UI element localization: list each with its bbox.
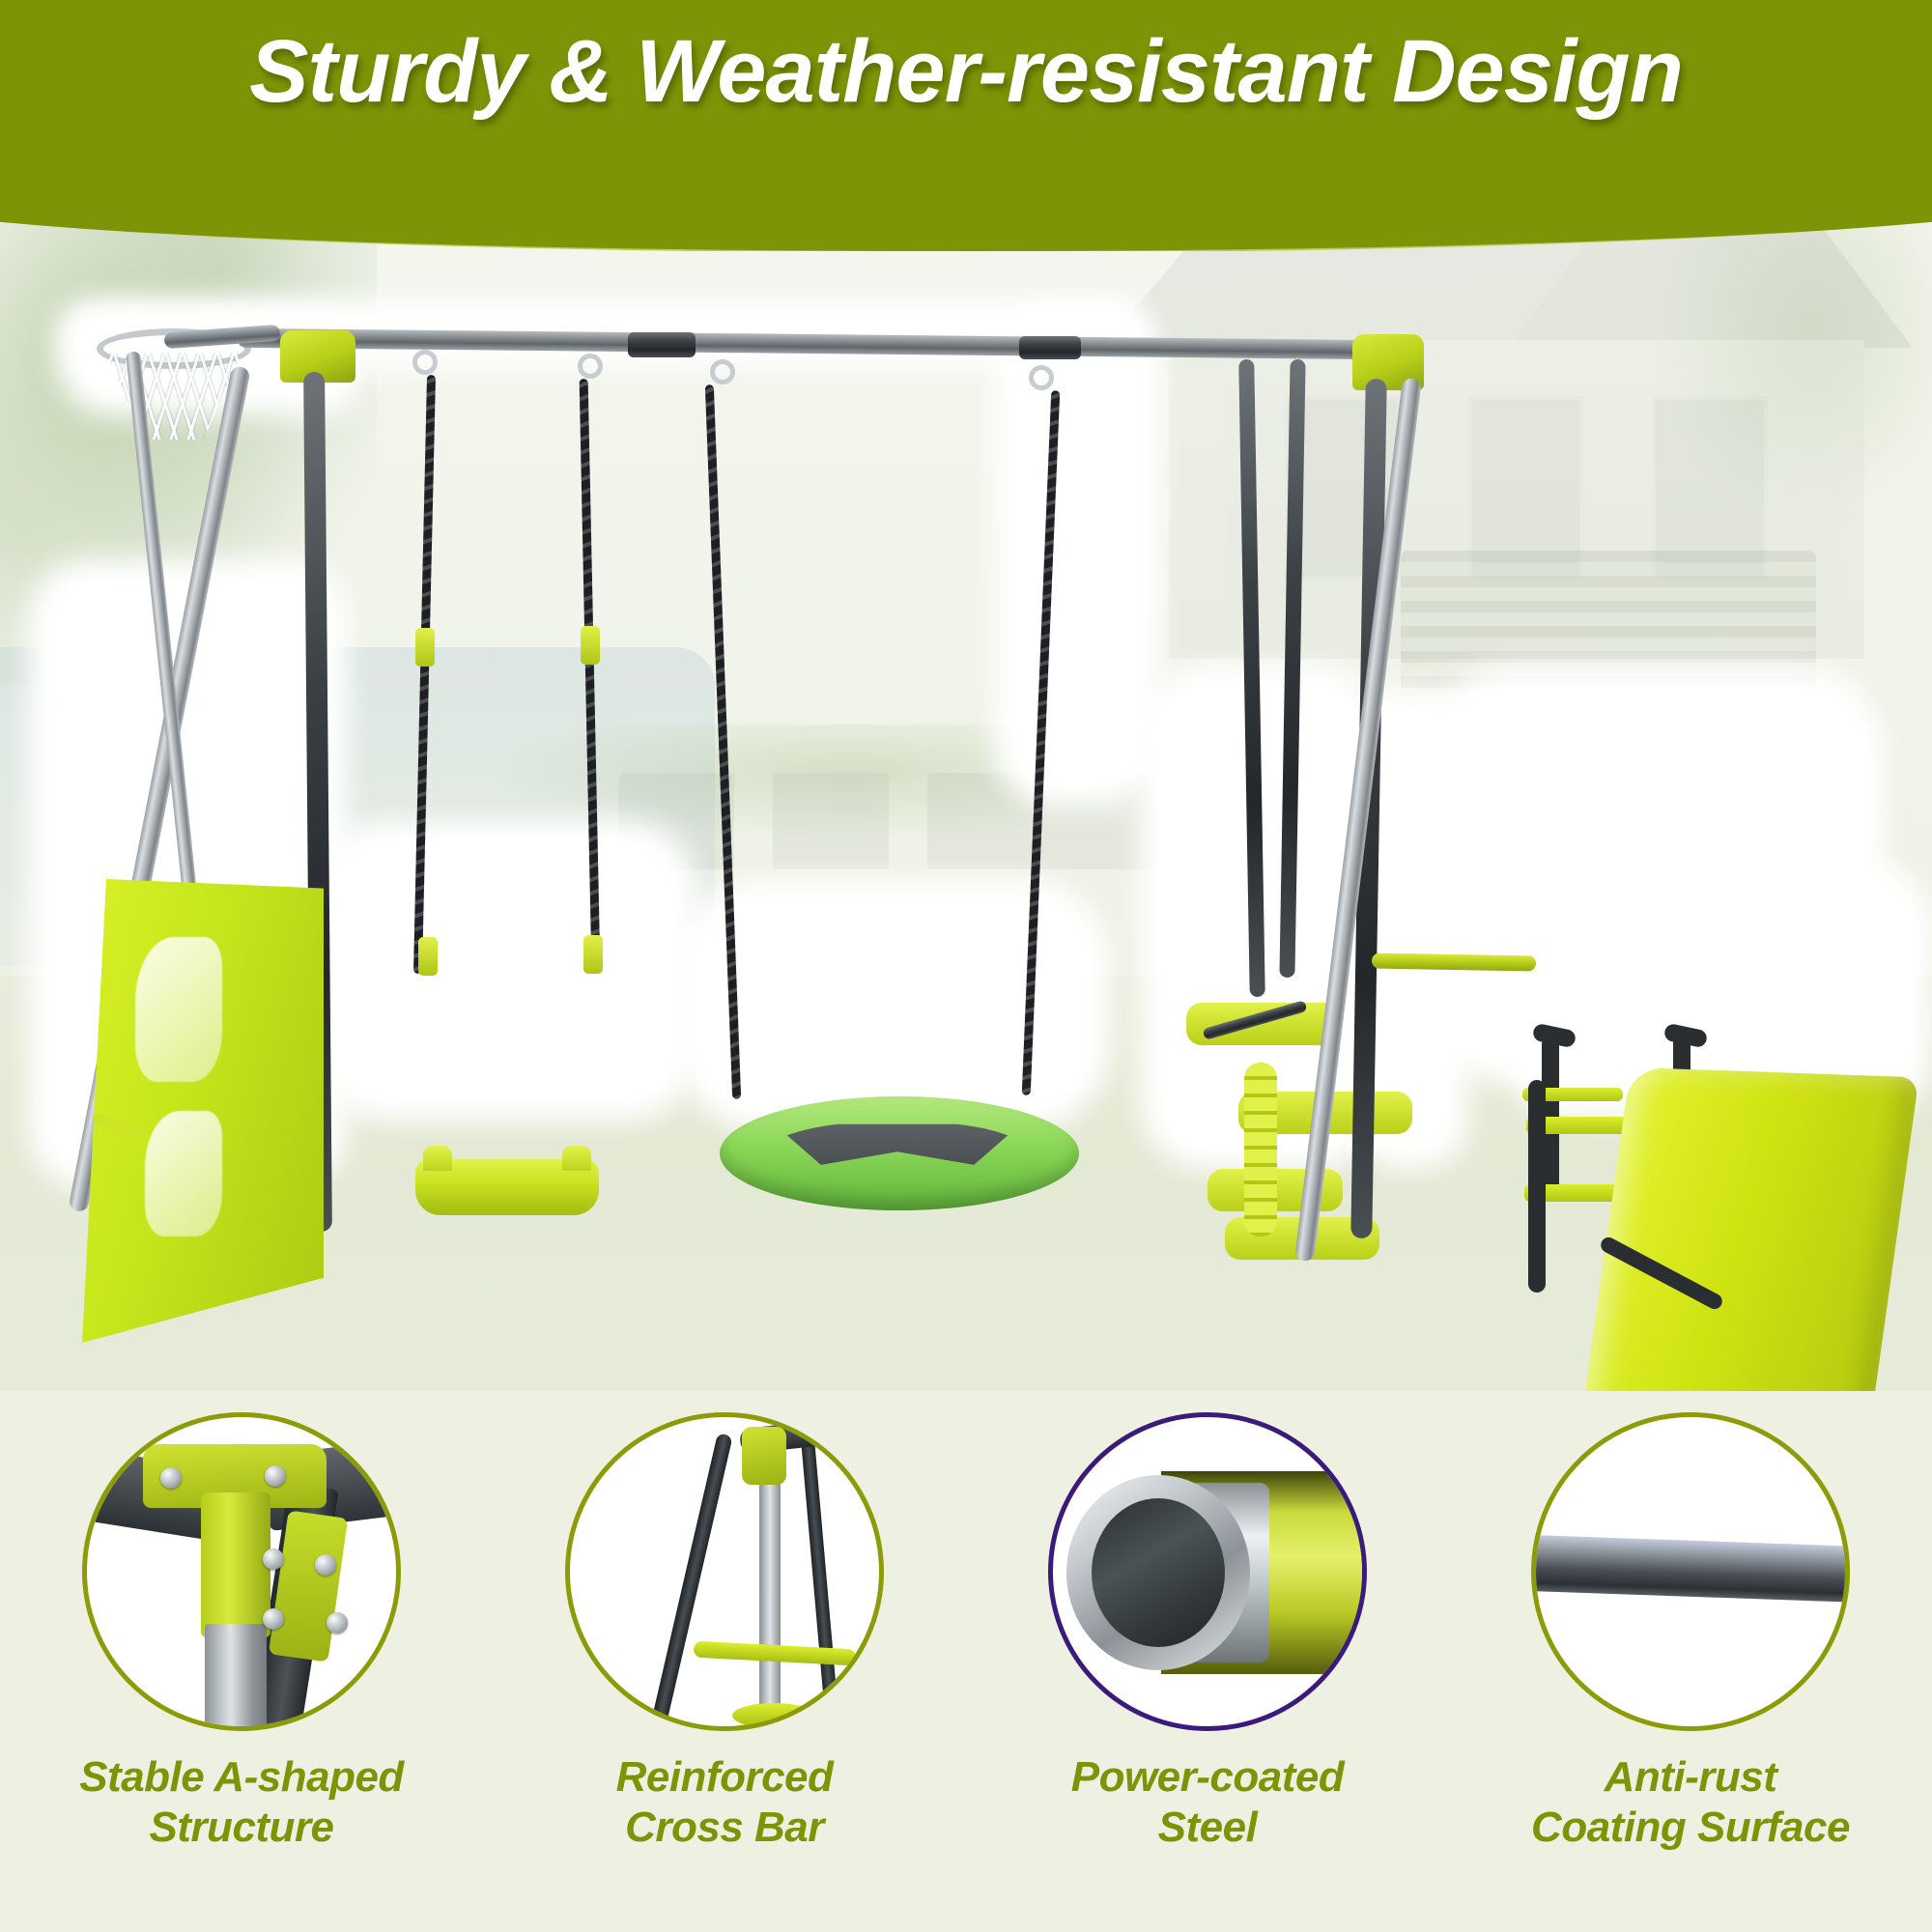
- rope-adjuster: [418, 937, 438, 976]
- header-banner: Sturdy & Weather-resistant Design: [0, 0, 1932, 251]
- slide-support-bar: [1372, 953, 1536, 972]
- feature-image-a-frame-bracket: [82, 1412, 401, 1731]
- bolt-icon: [327, 1612, 348, 1634]
- bolt-icon: [263, 1608, 284, 1630]
- bracket-post: [205, 1624, 267, 1731]
- feature-image-coated-bar: [1531, 1412, 1850, 1731]
- feature-label-line2: Coating Surface: [1531, 1804, 1850, 1851]
- a-frame-bracket: [742, 1427, 786, 1485]
- rail-clamp: [628, 332, 696, 357]
- feature-label-line1: Anti-rust: [1605, 1753, 1777, 1801]
- a-frame-leg-left: [650, 1433, 732, 1728]
- feature-image-cross-bar: [565, 1412, 884, 1731]
- rail-clamp: [1019, 336, 1081, 359]
- bracket-neck: [201, 1492, 270, 1637]
- feature-label: Reinforced Cross Bar: [616, 1752, 834, 1853]
- swing-set-assembly: [0, 145, 1932, 1391]
- feature-reinforced-cross-bar: Reinforced Cross Bar: [483, 1391, 966, 1932]
- feature-label: Power-coated Steel: [1071, 1752, 1345, 1853]
- feature-label: Anti-rust Coating Surface: [1531, 1752, 1850, 1853]
- feature-label-line1: Reinforced: [616, 1753, 834, 1801]
- tent-window: [145, 1111, 222, 1236]
- saucer-rope: [1022, 390, 1061, 1095]
- feature-anti-rust-coating-surface: Anti-rust Coating Surface: [1449, 1391, 1932, 1932]
- bolt-icon: [265, 1465, 286, 1487]
- feature-label-line1: Stable A-shaped: [79, 1753, 404, 1801]
- a-frame-leg-right: [801, 1435, 840, 1730]
- feature-label-line2: Cross Bar: [625, 1804, 824, 1851]
- glider-hanger-bar: [1238, 359, 1265, 997]
- bolt-icon: [263, 1548, 284, 1570]
- anti-rust-coated-bar: [1531, 1534, 1850, 1603]
- bolt-icon: [315, 1554, 336, 1576]
- glider-footrest-pad: [732, 1703, 815, 1728]
- saucer-hanger-ring: [1029, 365, 1054, 390]
- tent-window: [135, 937, 222, 1082]
- top-cross-bar: [237, 328, 1386, 359]
- swing-hanger-ring: [412, 350, 438, 375]
- saucer-nest-swing: [720, 1096, 1079, 1210]
- saucer-rope: [705, 384, 741, 1099]
- belt-swing-seat: [415, 1159, 599, 1215]
- glider-hanger-bar: [1279, 359, 1305, 978]
- feature-label-line2: Structure: [149, 1804, 333, 1851]
- feature-power-coated-steel: Power-coated Steel: [966, 1391, 1449, 1932]
- rope-adjuster: [581, 626, 600, 665]
- feature-stable-a-shaped-structure: Stable A-shaped Structure: [0, 1391, 483, 1932]
- ladder-rail: [1528, 1080, 1546, 1293]
- swing-hanger-ring: [578, 354, 603, 379]
- rope-adjuster: [415, 628, 435, 667]
- feature-image-tube-cross-section: [1048, 1412, 1367, 1731]
- hero-product-photo: [0, 145, 1932, 1391]
- page-title: Sturdy & Weather-resistant Design: [0, 21, 1932, 123]
- feature-callout-row: Stable A-shaped Structure Reinforced Cro…: [0, 1391, 1932, 1932]
- wave-slide: [1577, 1067, 1918, 1391]
- glider-hand-grip: [1244, 1063, 1277, 1236]
- feature-label: Stable A-shaped Structure: [79, 1752, 404, 1853]
- feature-label-line2: Steel: [1158, 1804, 1258, 1851]
- rope-adjuster: [583, 935, 603, 974]
- tube-bore: [1092, 1498, 1225, 1647]
- saucer-hanger-ring: [710, 359, 735, 384]
- bolt-icon: [160, 1467, 182, 1489]
- feature-label-line1: Power-coated: [1071, 1753, 1345, 1801]
- swing-rope: [580, 379, 601, 968]
- swing-rope: [413, 375, 436, 974]
- a-frame-leg-center: [759, 1442, 781, 1731]
